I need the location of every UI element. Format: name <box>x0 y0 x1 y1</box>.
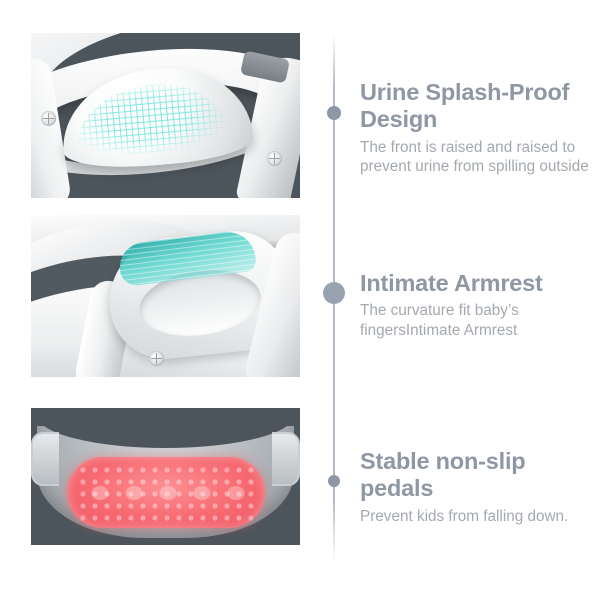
feature-description-2: The curvature fit baby’s fingersIntimate… <box>360 301 590 340</box>
pad-bump-texture <box>83 479 249 507</box>
feature-title-2: Intimate Armrest <box>360 270 590 297</box>
feature-description-3: Prevent kids from falling down. <box>360 507 590 526</box>
splash-guard-photo <box>31 33 300 198</box>
timeline-dot-2 <box>323 282 345 304</box>
feature-title-1: Urine Splash-Proof Design <box>360 79 590 134</box>
pedal-left-bracket <box>31 432 59 486</box>
timeline-dot-1 <box>327 106 341 120</box>
feature-title-3: Stable non-slip pedals <box>360 448 590 503</box>
screw-icon <box>149 351 164 366</box>
feature-block-3: Stable non-slip pedals Prevent kids from… <box>360 448 590 526</box>
pedal-right-bracket <box>272 432 300 486</box>
screw-icon <box>267 151 282 166</box>
non-slip-pedal-photo <box>31 408 300 545</box>
feature-description-1: The front is raised and raised to preven… <box>360 138 590 177</box>
feature-block-1: Urine Splash-Proof Design The front is r… <box>360 79 590 177</box>
armrest-illustration <box>31 215 300 377</box>
screw-icon <box>41 111 56 126</box>
pedal-illustration <box>31 408 300 545</box>
non-slip-pad <box>67 457 265 528</box>
timeline-dot-3 <box>328 475 340 487</box>
armrest-photo <box>31 215 300 377</box>
feature-block-2: Intimate Armrest The curvature fit baby’… <box>360 270 590 340</box>
splash-guard-illustration <box>31 33 300 198</box>
